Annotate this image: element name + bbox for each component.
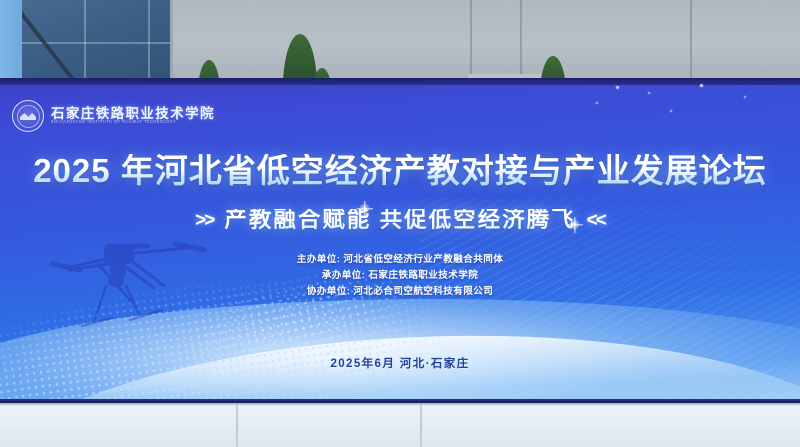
sparkle-icon xyxy=(596,102,598,104)
organizer-line: 协办单位: 河北必合司空航空科技有限公司 xyxy=(307,286,494,299)
forum-main-title: 2025 年河北省低空经济产教对接与产业发展论坛 xyxy=(0,154,800,187)
institution-name-en: SHIJIAZHUANG INSTITUTE OF RAILWAY TECHNO… xyxy=(51,121,215,125)
forum-banner: 石家庄铁路职业技术学院 SHIJIAZHUANG INSTITUTE OF RA… xyxy=(0,78,800,403)
floor-seam xyxy=(420,403,422,447)
photo-of-forum-banner: 石家庄铁路职业技术学院 SHIJIAZHUANG INSTITUTE OF RA… xyxy=(0,0,800,447)
sparkle-icon xyxy=(700,84,703,87)
chevron-left-double-icon: << xyxy=(587,211,605,230)
sparkle-icon xyxy=(616,86,619,89)
floor-seam xyxy=(236,403,238,447)
organizer-line: 主办单位: 河北省低空经济行业产教融合共同体 xyxy=(297,254,504,267)
chevron-right-double-icon: >> xyxy=(195,211,213,230)
forum-subtitle-text: 产教融合赋能 共促低空经济腾飞 xyxy=(224,209,575,232)
floor-shadow xyxy=(0,403,800,406)
sparkle-icon xyxy=(744,96,746,98)
sparkle-icon xyxy=(648,92,650,94)
banner-top-strip xyxy=(0,78,800,85)
foreground-floor xyxy=(0,403,800,447)
date-and-place: 2025年6月 河北·石家庄 xyxy=(0,359,800,371)
sparkle-icon xyxy=(670,110,672,112)
organizer-line: 承办单位: 石家庄铁路职业技术学院 xyxy=(322,270,479,283)
forum-subtitle: >> 产教融合赋能 共促低空经济腾飞 << xyxy=(0,209,800,232)
organizer-list: 主办单位: 河北省低空经济行业产教融合共同体 承办单位: 石家庄铁路职业技术学院… xyxy=(0,254,800,299)
institution-logo: 石家庄铁路职业技术学院 SHIJIAZHUANG INSTITUTE OF RA… xyxy=(12,100,215,132)
institution-logo-text: 石家庄铁路职业技术学院 SHIJIAZHUANG INSTITUTE OF RA… xyxy=(51,107,215,125)
school-emblem-icon xyxy=(12,100,44,132)
